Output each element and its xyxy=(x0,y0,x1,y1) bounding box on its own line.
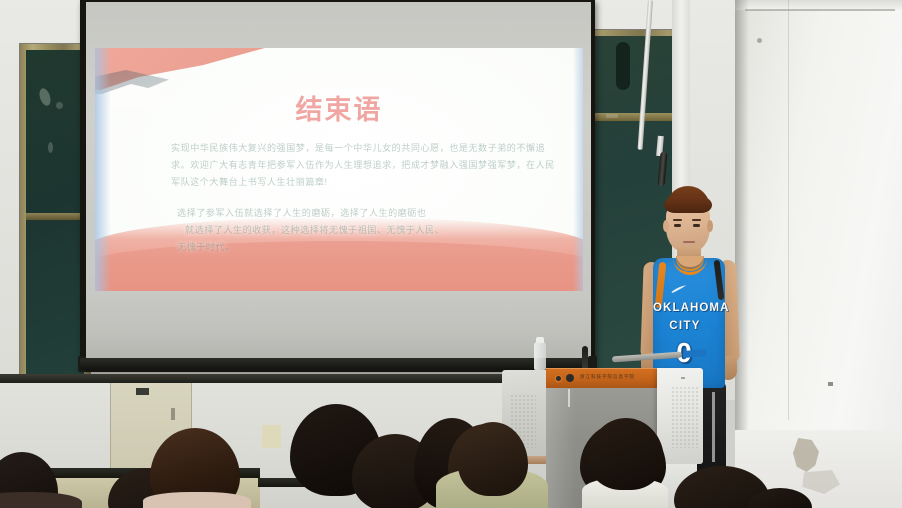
podium-right-speaker xyxy=(657,368,703,464)
projected-slide: 结束语 实现中华民族伟大复兴的强国梦，是每一个中华儿女的共同心愿，也是无数子弟的… xyxy=(95,48,583,291)
institution-logo-icon xyxy=(554,374,563,383)
chalk-smudge xyxy=(37,87,52,107)
cabinet-handle[interactable] xyxy=(171,408,175,420)
jersey-team-line-1: OKLAHOMA xyxy=(653,302,717,314)
chalkboard-ledge xyxy=(0,374,505,383)
chalkboard-surface xyxy=(26,50,84,390)
presenter-eye xyxy=(693,224,700,227)
nike-swoosh-icon xyxy=(671,280,687,288)
speaker-indicator xyxy=(681,377,685,379)
classroom-lecture-photo: 结束语 实现中华民族伟大复兴的强国梦，是每一个中华儿女的共同心愿，也是无数子弟的… xyxy=(0,0,902,508)
podium-nameplate: 浙江科技学院信息学院 xyxy=(546,368,672,388)
wall-screw-icon xyxy=(757,38,762,43)
slide-paragraph-2-line-1: 选择了参军入伍就选择了人生的磨砺，选择了人生的磨砺也 xyxy=(177,208,426,218)
wall-notice xyxy=(262,425,281,448)
jersey-team-line-2: CITY xyxy=(653,320,717,332)
wall-screw-icon xyxy=(828,382,833,386)
wall-wire xyxy=(745,9,895,11)
slide-paragraph-2-line-3: 无愧于时代。 xyxy=(177,239,555,256)
shorts-stripe xyxy=(712,392,715,462)
podium-cable xyxy=(568,389,570,407)
institution-logo-mark xyxy=(566,374,574,382)
chalkboard-mark xyxy=(616,42,630,90)
slide-paragraph-1: 实现中华民族伟大复兴的强国梦，是每一个中华儿女的共同心愿，也是无数子弟的不懈追求… xyxy=(171,140,555,191)
jersey-shoulder-strap xyxy=(714,260,725,300)
speaker-grille xyxy=(671,386,699,448)
cabinet-plaque xyxy=(136,388,149,395)
list-item xyxy=(143,492,251,508)
projection-screen-lower xyxy=(86,291,591,359)
podium-accent xyxy=(684,349,707,358)
chalk-smudge xyxy=(56,102,63,109)
water-bottle[interactable] xyxy=(534,342,546,370)
presenter-hair-front xyxy=(664,196,712,213)
presenter-ear xyxy=(663,220,669,232)
slide-paragraph-2-line-2: 就选择了人生的收获，这种选择将无愧于祖国、无愧于人民、 xyxy=(185,222,555,239)
institution-name: 浙江科技学院信息学院 xyxy=(580,374,635,380)
podium-highlight xyxy=(546,388,576,508)
slide-body: 实现中华民族伟大复兴的强国梦，是每一个中华儿女的共同心愿，也是无数子弟的不懈追求… xyxy=(171,140,555,270)
slide-title: 结束语 xyxy=(95,88,583,127)
water-bottle-cap xyxy=(536,337,544,343)
chalkboard-divider xyxy=(26,213,84,220)
presenter-eyebrow xyxy=(673,219,682,221)
presenter-eyebrow xyxy=(692,219,701,221)
wall-seam xyxy=(788,0,789,420)
slide-content: 结束语 实现中华民族伟大复兴的强国梦，是每一个中华儿女的共同心愿，也是无数子弟的… xyxy=(95,48,583,291)
presenter-mouth xyxy=(683,241,695,243)
presenter-ear xyxy=(707,220,713,232)
chalk-smudge xyxy=(606,114,618,118)
slide-paragraph-2: 选择了参军入伍就选择了人生的磨砺，选择了人生的磨砺也 就选择了人生的收获，这种选… xyxy=(177,205,555,256)
presenter-eye xyxy=(674,224,681,227)
chalk-smudge xyxy=(48,142,53,153)
microphone-icon[interactable] xyxy=(582,346,588,370)
